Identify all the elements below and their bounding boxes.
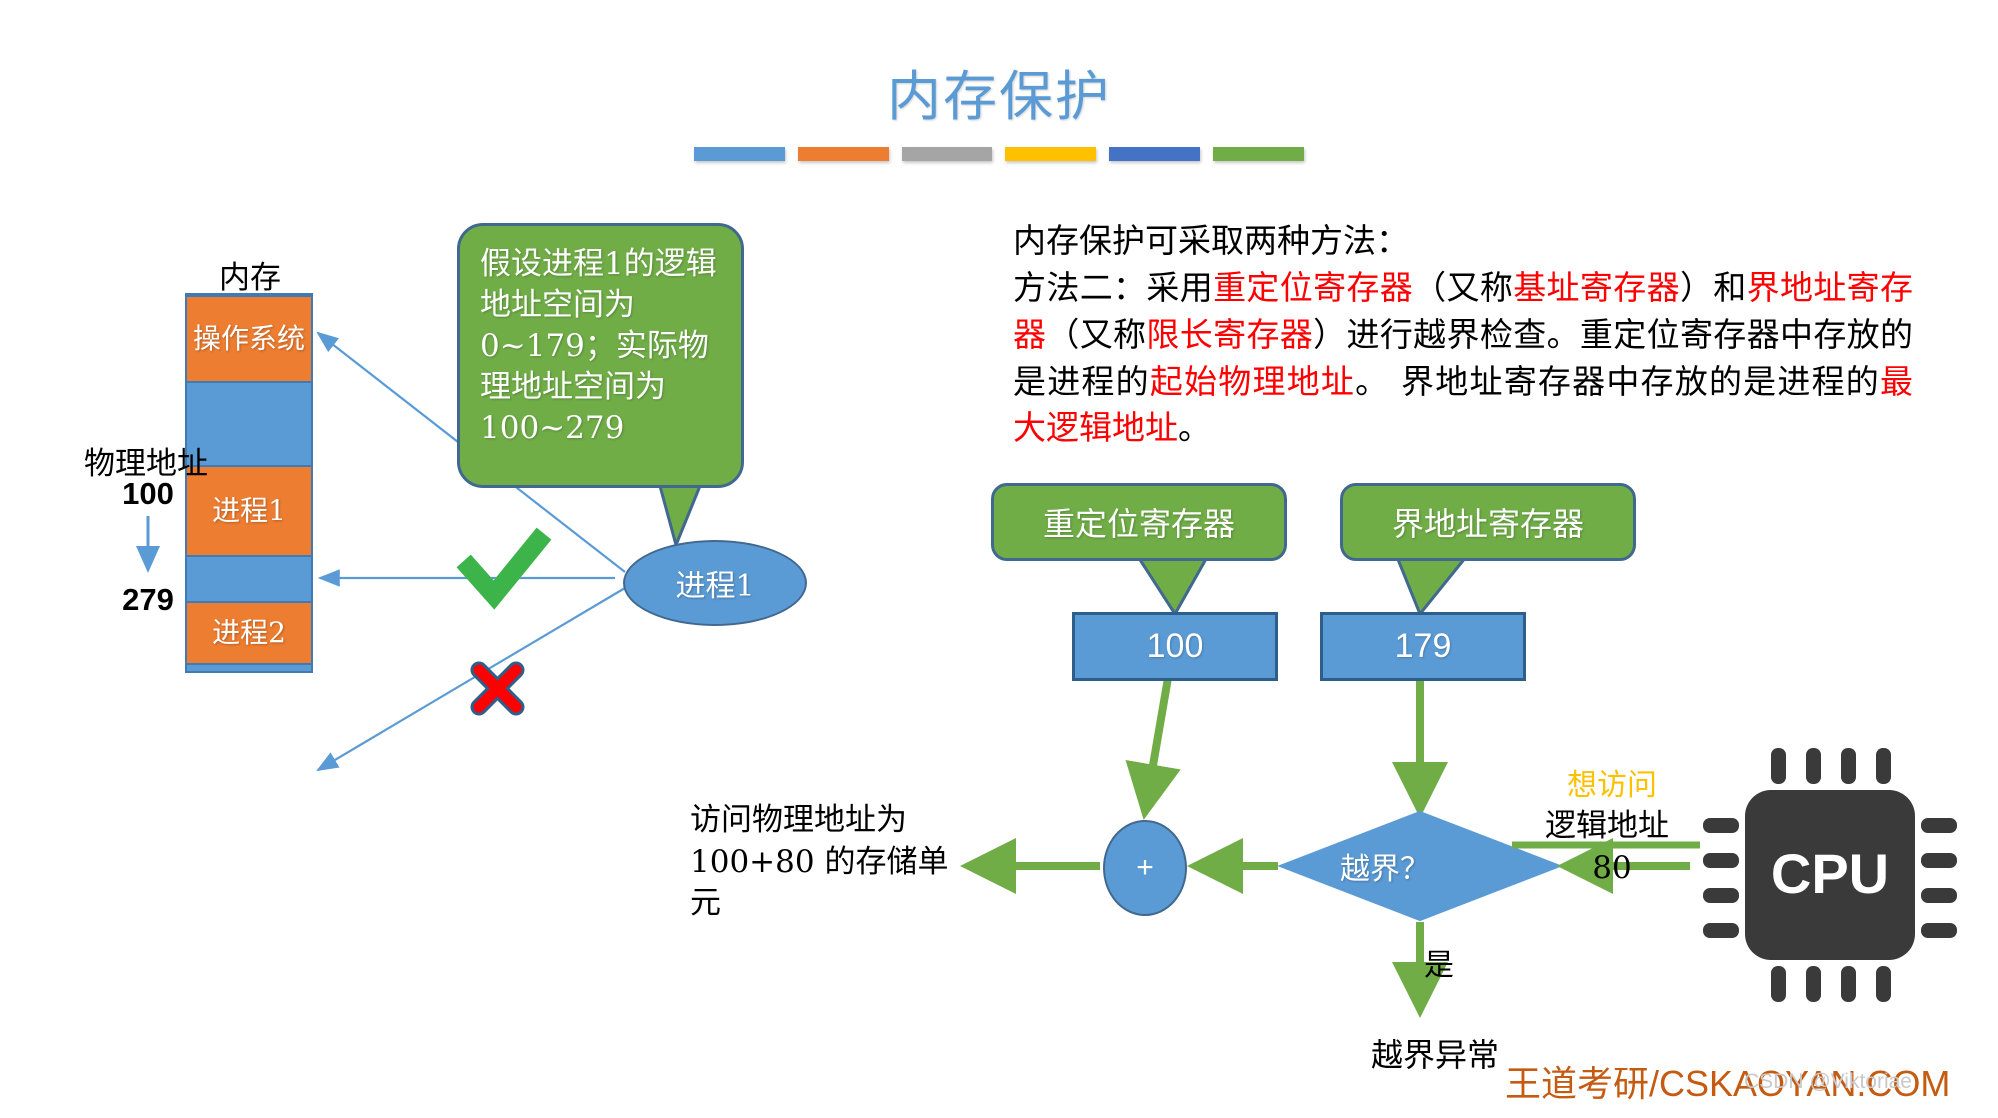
arrow-relocation-to-adder [1145,678,1168,812]
title-bar-gray [902,147,993,161]
explanation-paragraph: 内存保护可采取两种方法： 方法二：采用重定位寄存器（又称基址寄存器）和界地址寄存… [1013,218,1913,452]
assumption-callout: 假设进程1的逻辑地址空间为 0~179；实际物理地址空间为 100~279 [457,223,744,488]
paragraph-text: 。 [1178,408,1211,447]
paragraph-body: 方法二：采用重定位寄存器（又称基址寄存器）和界地址寄存器（又称限长寄存器）进行越… [1013,265,1913,452]
title-bar-blue [694,147,785,161]
paragraph-highlight: 基址寄存器 [1513,268,1680,307]
title-color-bars [694,147,1304,161]
paragraph-highlight: 限长寄存器 [1146,315,1313,354]
relocation-bubble-tail [1135,552,1210,614]
start-address-label: 100 [88,476,208,512]
relocation-register-value: 100 [1072,612,1278,681]
cpu-chip-icon: CPU [1703,748,1957,1002]
paragraph-text: （又称 [1046,315,1146,354]
cross-bottom-icon [479,670,516,707]
connector-to-process2-block [318,588,625,770]
memory-heading: 内存 [185,252,315,297]
paragraph-line-1: 内存保护可采取两种方法： [1013,218,1913,265]
check-icon [470,541,538,595]
end-address-label: 279 [88,582,208,618]
limit-bubble-tail [1395,552,1470,614]
relocation-register-bubble: 重定位寄存器 [991,483,1287,561]
yes-branch-label: 是 [1424,940,1454,984]
paragraph-text: （又称 [1413,268,1513,307]
access-result-text: 访问物理地址为 100+80 的存储单元 [690,800,960,925]
memory-block-os: 操作系统 [187,295,311,383]
paragraph-text: 方法二：采用 [1013,268,1213,307]
limit-register-value: 179 [1320,612,1526,681]
page-title: 内存保护 [0,52,1998,131]
decision-label: 越界？ [1290,822,1480,910]
cpu-want-label: 想访问 [1527,760,1697,804]
cpu-logical-address-value: 80 [1527,850,1697,886]
cpu-logical-address-label: 逻辑地址 [1512,800,1702,845]
paragraph-highlight: 重定位寄存器 [1213,268,1413,307]
paragraph-text: 。 界地址寄存器中存放的是进程的 [1355,362,1880,401]
paragraph-text: ）和 [1680,268,1747,307]
watermark-csdn: CSDN @Viktoriae [1744,1070,1912,1094]
title-bar-green [1213,147,1304,161]
paragraph-highlight: 起始物理地址 [1150,362,1355,401]
slide-canvas: 内存保护 [0,0,1998,1118]
limit-register-bubble: 界地址寄存器 [1340,483,1636,561]
process1-ellipse: 进程1 [623,540,807,626]
callout-tail [660,486,700,545]
cpu-chip-label: CPU [1771,842,1889,905]
title-bar-yellow [1005,147,1096,161]
adder-node: + [1103,820,1187,916]
title-bar-navy [1109,147,1200,161]
title-bar-orange [798,147,889,161]
